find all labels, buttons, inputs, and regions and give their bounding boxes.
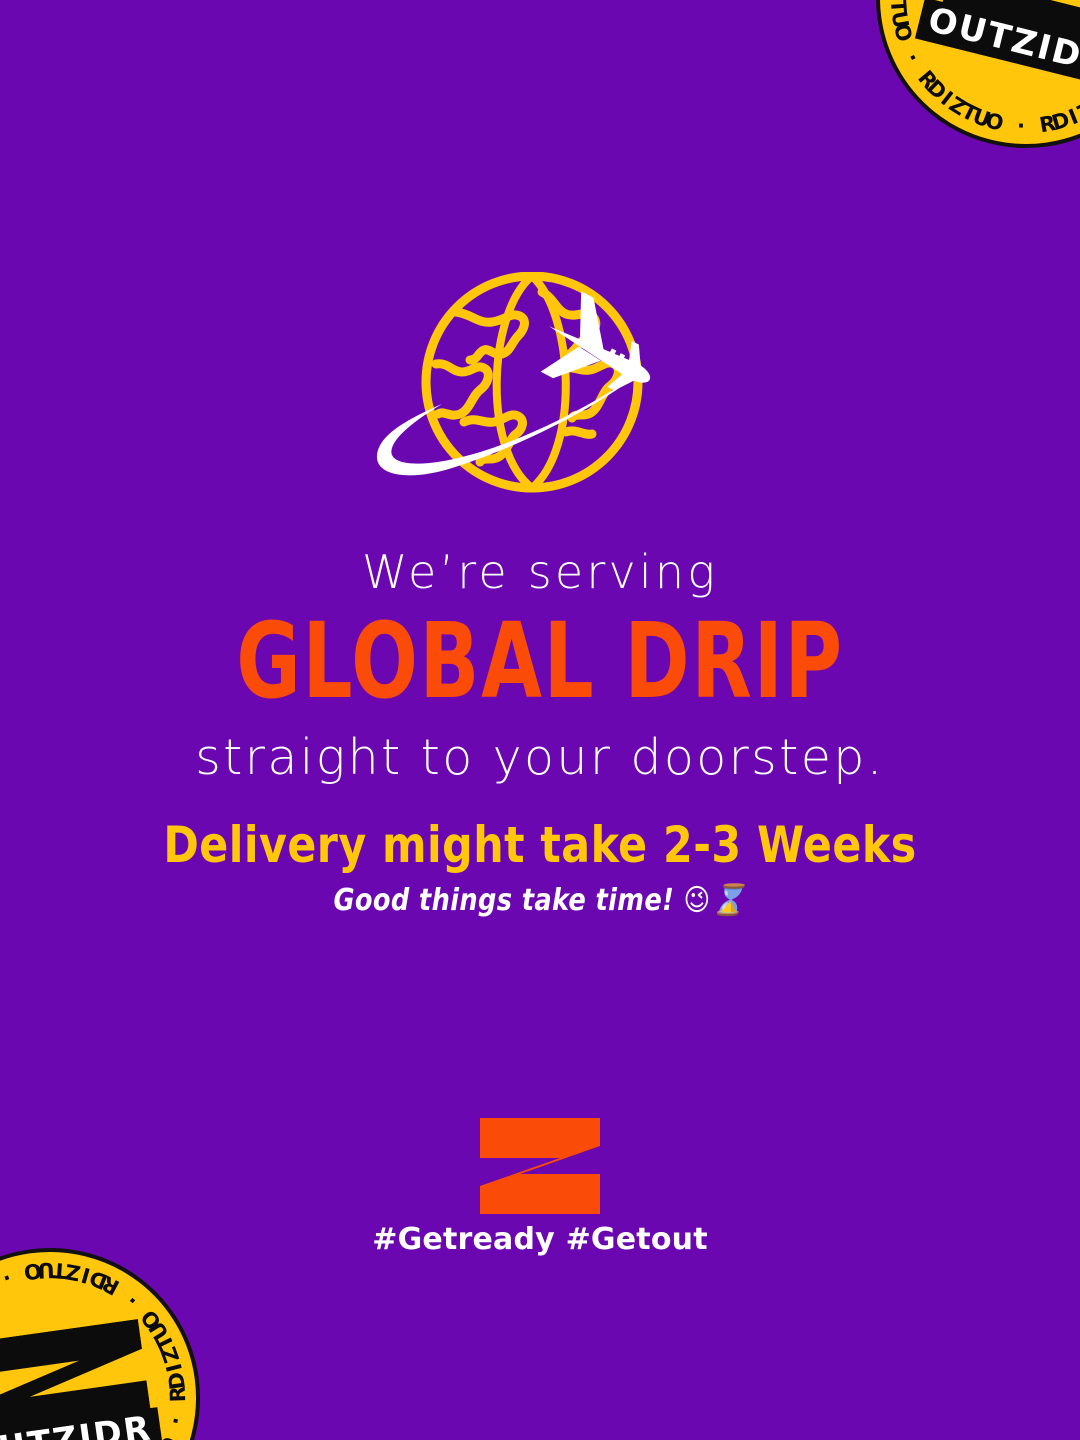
badge-ring-char: · xyxy=(0,1265,15,1291)
delivery-note-block: Delivery might take 2-3 Weeks Good thing… xyxy=(0,818,1080,918)
badge-center-logo-bottom-left: OUTZIDR xyxy=(0,1319,156,1440)
headline-eyebrow: We’re serving xyxy=(0,548,1080,596)
promo-poster: OUTZIDR·OUTZIDR·OUTZIDR·OUTZIDR·OUTZIDR·… xyxy=(0,0,1080,1440)
headline-subline: straight to your doorstep. xyxy=(0,732,1080,783)
badge-ring-char: T xyxy=(886,0,911,16)
outzidr-sticker-badge-top-right: OUTZIDR·OUTZIDR·OUTZIDR·OUTZIDR·OUTZIDR·… xyxy=(844,0,1080,180)
footer-block: #Getready #Getout xyxy=(0,1118,1080,1257)
page-title: GLOBAL DRIP xyxy=(86,614,993,710)
badge-ring-char: · xyxy=(163,1414,188,1427)
outzidr-z-logo xyxy=(476,1118,604,1214)
headline-block: We’re serving GLOBAL DRIP straight to yo… xyxy=(0,548,1080,783)
footer-hashtags: #Getready #Getout xyxy=(0,1222,1080,1257)
badge-ring-char: R xyxy=(166,1384,191,1402)
badge-ring-char: · xyxy=(1017,114,1027,138)
delivery-note-subtext: Good things take time! 😉⌛ xyxy=(27,883,1053,918)
outzidr-sticker-badge-bottom-left: OUTZIDR·OUTZIDR·OUTZIDR·OUTZIDR·OUTZIDR·… xyxy=(0,1229,219,1440)
badge-ring-char: · xyxy=(900,48,926,67)
delivery-time-text: Delivery might take 2-3 Weeks xyxy=(27,818,1053,873)
globe-with-airplane-icon xyxy=(360,272,720,510)
badge-ring-char: · xyxy=(121,1288,143,1312)
